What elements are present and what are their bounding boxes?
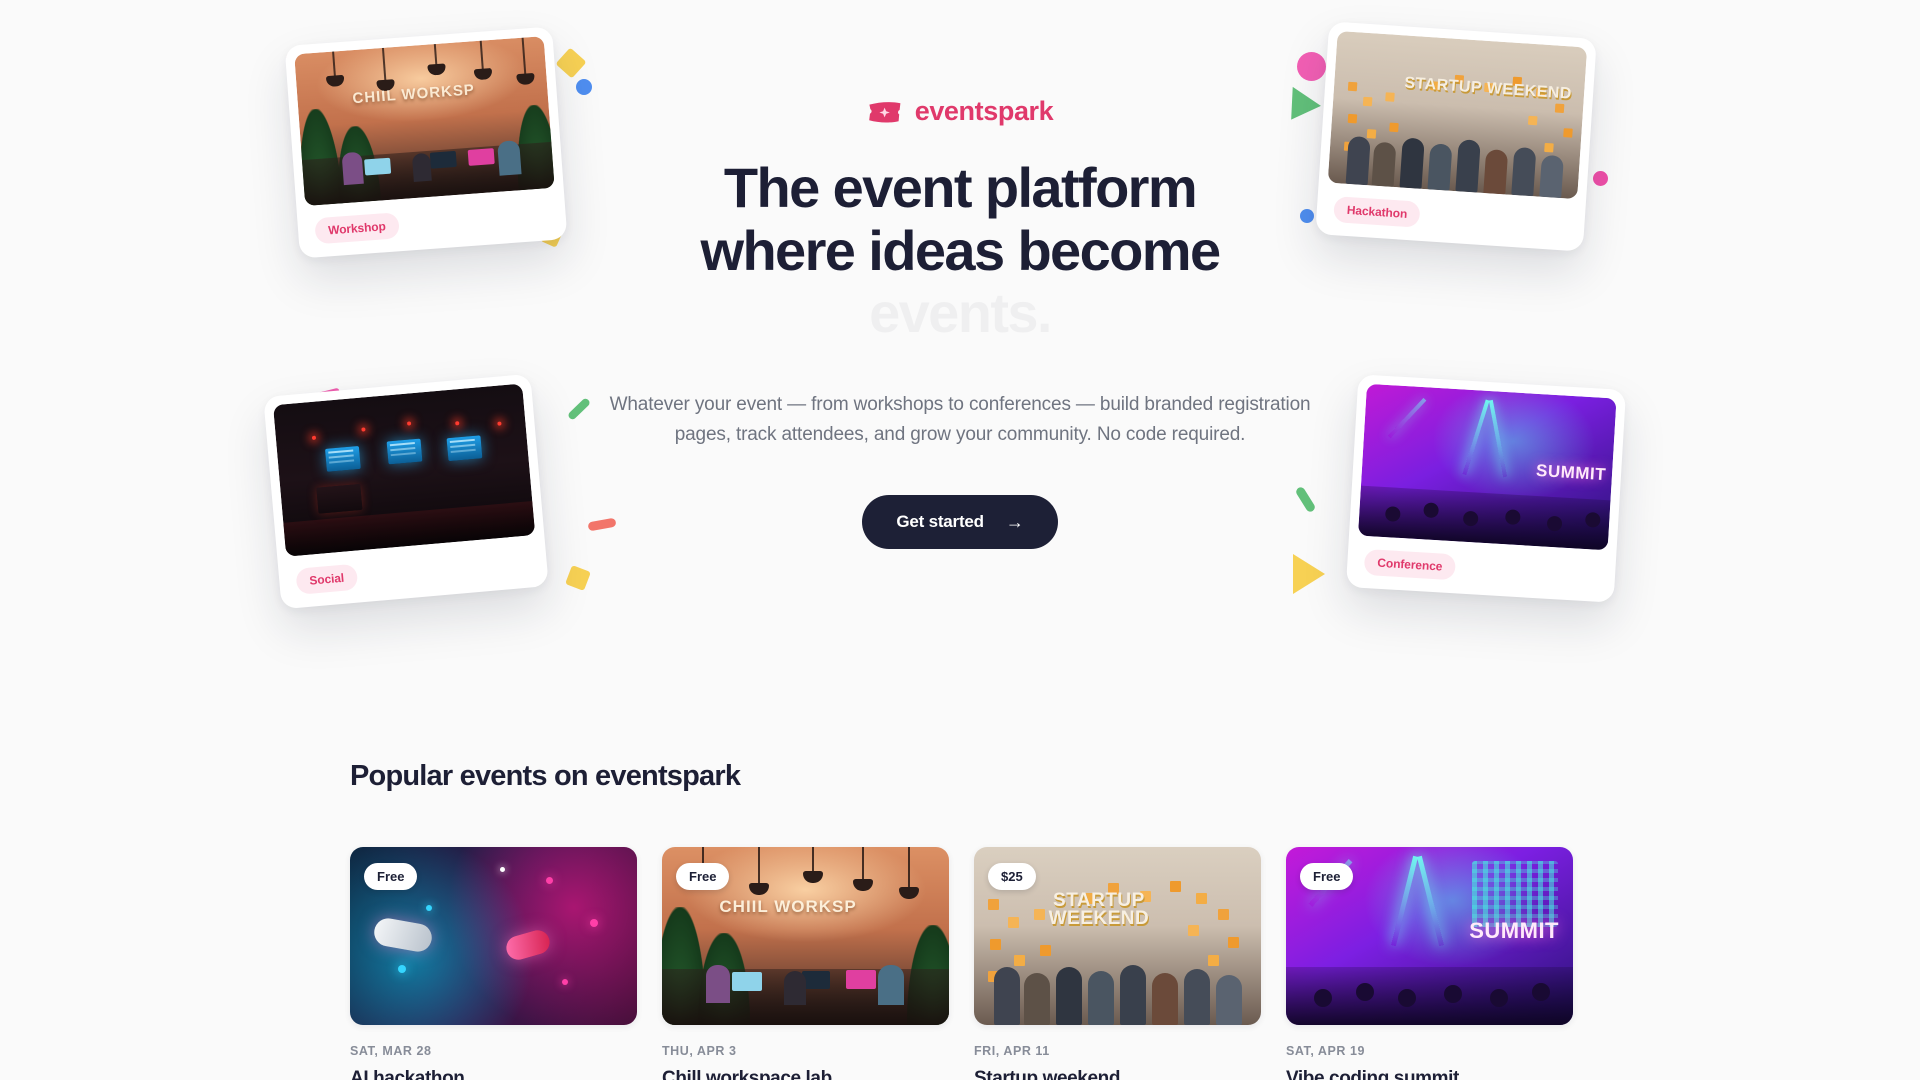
event-thumbnail: SUMMIT Free xyxy=(1286,847,1573,1025)
event-card[interactable]: STARTUPWEEKEND $25 FRI, APR 11 xyxy=(974,847,1261,1080)
hero-card-hackathon-photo: STARTUP WEEKEND xyxy=(1328,31,1588,199)
brand-name: eventspark xyxy=(915,96,1054,127)
event-price-badge: Free xyxy=(676,863,729,890)
hero-card-conference-badge: Conference xyxy=(1364,549,1456,580)
event-title: Chill workspace lab xyxy=(662,1068,949,1080)
headline-line-2: where ideas become xyxy=(580,220,1340,283)
arrow-right-icon: → xyxy=(1006,513,1024,531)
event-price-badge: Free xyxy=(1300,863,1353,890)
hero-card-workshop-photo: CHIIL WORKSP xyxy=(294,36,554,206)
popular-events-title: Popular events on eventspark xyxy=(350,760,1570,793)
hero-card-conference[interactable]: SUMMIT Conference xyxy=(1346,374,1626,603)
decor-square-yellow-topleft xyxy=(555,47,586,78)
event-card[interactable]: SUMMIT Free SAT, APR 19 Vibe coding sum xyxy=(1286,847,1573,1080)
event-price-badge: Free xyxy=(364,863,417,890)
hero-card-hackathon[interactable]: STARTUP WEEKEND Hackathon xyxy=(1315,21,1597,251)
hero-card-workshop[interactable]: CHIIL WORKSP Workshop xyxy=(285,26,568,258)
hero-card-hackathon-caption: STARTUP WEEKEND xyxy=(1404,75,1572,101)
hero-card-conference-caption: SUMMIT xyxy=(1535,461,1606,485)
decor-dot-magenta-right xyxy=(1593,171,1608,186)
get-started-label: Get started xyxy=(896,512,984,532)
hero-content: eventspark The event platform where idea… xyxy=(580,96,1340,549)
event-title: Startup weekend xyxy=(974,1068,1261,1080)
get-started-button[interactable]: Get started → xyxy=(862,495,1057,549)
event-thumbnail: STARTUPWEEKEND $25 xyxy=(974,847,1261,1025)
popular-events-grid: Free SAT, MAR 28 AI hackathon xyxy=(350,847,1570,1080)
hero-card-workshop-caption: CHIIL WORKSP xyxy=(352,81,475,107)
hero-subcopy: Whatever your event — from workshops to … xyxy=(580,390,1340,450)
landing-page: CHIIL WORKSP Workshop xyxy=(0,0,1920,1080)
hero-card-social-badge: Social xyxy=(295,564,358,595)
headline-line-1: The event platform xyxy=(580,157,1340,220)
event-date: FRI, APR 11 xyxy=(974,1044,1261,1058)
event-date: SAT, APR 19 xyxy=(1286,1044,1573,1058)
hero-card-workshop-badge: Workshop xyxy=(314,212,399,244)
event-title: Vibe coding summit xyxy=(1286,1068,1573,1080)
decor-triangle-yellow-right xyxy=(1293,554,1325,594)
decor-dot-blue-topleft xyxy=(576,79,592,95)
hero-card-hackathon-badge: Hackathon xyxy=(1333,196,1421,228)
hero-card-conference-photo: SUMMIT xyxy=(1358,384,1617,551)
event-card[interactable]: CHIIL WORKSP Free xyxy=(662,847,949,1080)
decor-dot-pink-topright xyxy=(1297,52,1326,81)
event-card[interactable]: Free SAT, MAR 28 AI hackathon xyxy=(350,847,637,1080)
brand-logo[interactable]: eventspark xyxy=(580,96,1340,127)
headline-line-3: events. xyxy=(580,282,1340,345)
event-title: AI hackathon xyxy=(350,1068,637,1080)
hero-section: CHIIL WORKSP Workshop xyxy=(0,0,1920,700)
event-date: SAT, MAR 28 xyxy=(350,1044,637,1058)
page-title: The event platform where ideas become ev… xyxy=(580,157,1340,345)
event-price-badge: $25 xyxy=(988,863,1036,890)
event-thumbnail: CHIIL WORKSP Free xyxy=(662,847,949,1025)
event-thumbnail: Free xyxy=(350,847,637,1025)
popular-events-section: Popular events on eventspark xyxy=(0,760,1920,1080)
hero-card-social[interactable]: Social xyxy=(263,374,549,610)
hero-card-social-photo xyxy=(273,383,535,556)
decor-square-yellow-mid xyxy=(565,565,591,591)
ticket-icon xyxy=(867,99,903,125)
event-date: THU, APR 3 xyxy=(662,1044,949,1058)
